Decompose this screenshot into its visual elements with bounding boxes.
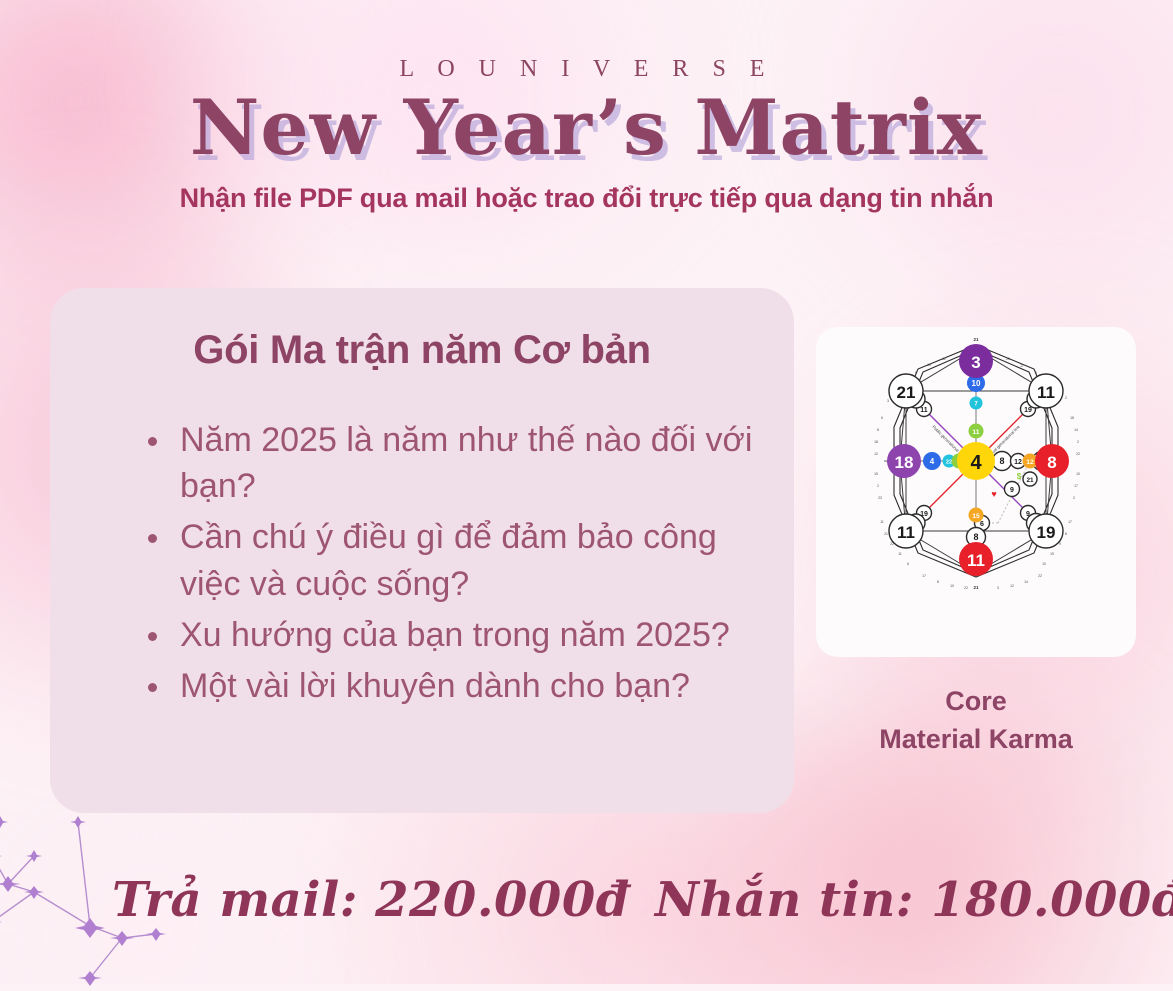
svg-text:11: 11 [972,429,979,436]
svg-text:8: 8 [973,532,978,542]
svg-text:17: 17 [922,574,926,578]
svg-text:6: 6 [907,562,909,566]
svg-text:12: 12 [1010,584,1014,588]
svg-text:11: 11 [920,407,928,414]
svg-text:14: 14 [1074,428,1078,432]
svg-text:15: 15 [874,472,878,476]
svg-text:15: 15 [972,513,980,520]
matrix-caption-line2: Material Karma [816,720,1136,758]
matrix-svg: .ln { stroke:#3a3a3a; stroke-width:1; fi… [816,327,1136,657]
page-header: L O U N I V E R S E New Year’s Matrix Nh… [0,0,1173,214]
svg-text:21: 21 [974,585,979,590]
brand-name: L O U N I V E R S E [0,56,1173,83]
svg-text:2: 2 [1077,440,1079,444]
svg-text:10: 10 [1076,472,1080,476]
list-item: Cần chú ý điều gì để đảm bảo công việc v… [146,514,754,606]
destiny-matrix-diagram: .ln { stroke:#3a3a3a; stroke-width:1; fi… [816,327,1136,657]
svg-text:2: 2 [1065,396,1067,400]
svg-text:18: 18 [874,440,878,444]
dollar-icon: $ [1017,472,1022,481]
svg-text:23: 23 [878,496,882,500]
svg-text:21: 21 [897,383,916,402]
svg-text:3: 3 [971,353,980,372]
svg-text:22: 22 [1038,574,1042,578]
svg-text:14: 14 [1024,580,1028,584]
svg-text:8: 8 [1035,371,1037,375]
svg-text:11: 11 [880,520,884,524]
svg-text:11: 11 [898,552,902,556]
svg-text:10: 10 [950,584,954,588]
svg-text:12: 12 [1026,459,1034,466]
svg-text:12: 12 [874,452,878,456]
svg-text:10: 10 [1042,562,1046,566]
svg-text:11: 11 [1037,383,1055,402]
svg-text:4: 4 [930,457,935,466]
svg-text:8: 8 [1065,532,1067,536]
heart-icon: ♥ [991,489,996,499]
svg-text:21: 21 [884,532,888,536]
svg-text:17: 17 [1020,364,1024,368]
svg-text:10: 10 [972,379,981,388]
svg-text:11: 11 [967,551,985,570]
matrix-caption: Core Material Karma [816,682,1136,759]
svg-text:3: 3 [887,399,889,403]
svg-text:6: 6 [915,371,917,375]
svg-text:9: 9 [1010,487,1014,494]
svg-text:22: 22 [946,460,952,466]
svg-text:20: 20 [1006,357,1010,361]
svg-text:18: 18 [1070,416,1074,420]
price-mail: Trả mail: 220.000đ [112,872,630,928]
matrix-caption-line1: Core [816,682,1136,720]
package-feature-list: Năm 2025 là năm như thế nào đối với bạn?… [90,417,754,709]
svg-text:6: 6 [881,416,883,420]
svg-text:17: 17 [1074,484,1078,488]
svg-text:17: 17 [1068,520,1072,524]
svg-text:11: 11 [897,523,915,542]
list-item: Một vài lời khuyên dành cho bạn? [146,663,754,709]
svg-text:8: 8 [877,428,879,432]
svg-text:12: 12 [1014,459,1022,466]
list-item: Năm 2025 là năm như thế nào đối với bạn? [146,417,754,509]
page-subtitle: Nhận file PDF qua mail hoặc trao đổi trự… [0,183,1173,214]
list-item: Xu hướng của bạn trong năm 2025? [146,612,754,658]
svg-text:6: 6 [980,521,984,528]
page-title: New Year’s Matrix [0,89,1173,167]
price-message: Nhắn tin: 180.000đ [655,872,1173,928]
svg-text:21: 21 [1026,477,1034,484]
svg-text:22: 22 [1076,452,1080,456]
package-card: Gói Ma trận năm Cơ bản Năm 2025 là năm n… [50,288,794,813]
svg-text:3: 3 [997,586,999,590]
svg-text:19: 19 [1024,407,1032,414]
svg-text:22: 22 [964,586,968,590]
svg-text:21: 21 [974,337,979,342]
svg-text:4: 4 [970,452,982,474]
svg-text:12: 12 [942,357,946,361]
svg-text:19: 19 [1050,552,1054,556]
svg-text:8: 8 [1047,453,1056,472]
svg-text:8: 8 [999,456,1004,466]
svg-text:19: 19 [1037,523,1056,542]
package-title: Gói Ma trận năm Cơ bản [90,328,754,373]
svg-text:8: 8 [937,580,939,584]
svg-text:2: 2 [877,484,879,488]
svg-text:18: 18 [895,453,914,472]
svg-text:2: 2 [1073,496,1075,500]
svg-text:13: 13 [927,363,931,367]
